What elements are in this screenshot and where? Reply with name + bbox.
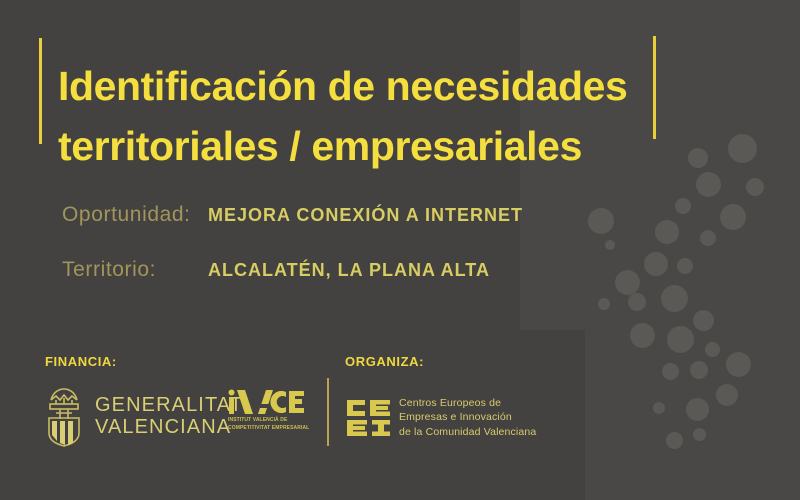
page-title: Identificación de necesidades territoria… <box>58 57 643 175</box>
detail-row-oportunidad: Oportunidad: MEJORA CONEXIÓN A INTERNET <box>62 203 523 227</box>
financia-label: FINANCIA: <box>45 354 117 369</box>
ivace-logo: INSTITUT VALENCIÀ DE COMPETITIVITAT EMPR… <box>228 388 308 432</box>
ivace-subtitle-line-1: INSTITUT VALENCIÀ DE <box>228 417 308 425</box>
decorative-dot <box>628 293 646 311</box>
ivace-subtitle: INSTITUT VALENCIÀ DE COMPETITIVITAT EMPR… <box>228 417 308 432</box>
ceei-line-3: de la Comunidad Valenciana <box>399 425 536 439</box>
decorative-dot <box>598 298 610 310</box>
title-rule-right <box>653 36 656 139</box>
presentation-slide: Identificación de necesidades territoria… <box>0 0 800 500</box>
decorative-dot <box>605 240 615 250</box>
decorative-dot <box>653 402 665 414</box>
decorative-dot <box>688 148 708 168</box>
title-rule-left <box>39 38 42 144</box>
decorative-dot <box>677 258 693 274</box>
decorative-dot <box>661 285 688 312</box>
decorative-dot <box>686 398 709 421</box>
decorative-dot-pattern <box>560 130 800 470</box>
decorative-dot <box>655 220 679 244</box>
background-panel-lower <box>585 330 800 500</box>
generalitat-word-line-2: VALENCIANA <box>95 416 243 438</box>
organiza-label: ORGANIZA: <box>345 354 424 369</box>
decorative-dot <box>667 326 694 353</box>
generalitat-valenciana-logo: GENERALITAT VALENCIANA <box>42 385 243 447</box>
decorative-dot <box>588 208 614 234</box>
ceei-line-2: Empresas e Innovación <box>399 410 536 424</box>
decorative-dot <box>728 134 757 163</box>
generalitat-coat-of-arms-icon <box>42 385 86 447</box>
decorative-dot <box>644 252 668 276</box>
footer-divider <box>327 378 329 446</box>
decorative-dot <box>630 323 655 348</box>
decorative-dot <box>746 178 764 196</box>
decorative-dot <box>705 342 720 357</box>
ceei-logo: Centros Europeos de Empresas e Innovació… <box>347 396 536 439</box>
decorative-dot <box>700 230 716 246</box>
ceei-line-1: Centros Europeos de <box>399 396 536 410</box>
decorative-dot <box>662 363 679 380</box>
decorative-dot <box>716 384 738 406</box>
detail-label-territorio: Territorio: <box>62 258 208 282</box>
decorative-dot <box>690 361 708 379</box>
decorative-dot <box>693 428 706 441</box>
decorative-dot <box>720 204 746 230</box>
decorative-dot <box>726 352 751 377</box>
detail-value-oportunidad: MEJORA CONEXIÓN A INTERNET <box>208 205 523 226</box>
ivace-wordmark-icon <box>228 388 304 415</box>
page-title-line-2: territoriales / empresariales <box>58 117 643 176</box>
ceei-monogram-icon <box>347 399 391 437</box>
generalitat-word-line-1: GENERALITAT <box>95 394 243 416</box>
detail-label-oportunidad: Oportunidad: <box>62 203 208 227</box>
detail-row-territorio: Territorio: ALCALATÉN, LA PLANA ALTA <box>62 258 490 282</box>
page-title-line-1: Identificación de necesidades <box>58 57 643 116</box>
ceei-wordmark: Centros Europeos de Empresas e Innovació… <box>399 396 536 439</box>
decorative-dot <box>696 172 721 197</box>
ivace-subtitle-line-2: COMPETITIVITAT EMPRESARIAL <box>228 425 308 433</box>
detail-value-territorio: ALCALATÉN, LA PLANA ALTA <box>208 260 490 281</box>
decorative-dot <box>666 432 683 449</box>
decorative-dot <box>693 310 714 331</box>
decorative-dot <box>615 270 640 295</box>
decorative-dot <box>675 198 691 214</box>
generalitat-valenciana-wordmark: GENERALITAT VALENCIANA <box>95 394 243 439</box>
